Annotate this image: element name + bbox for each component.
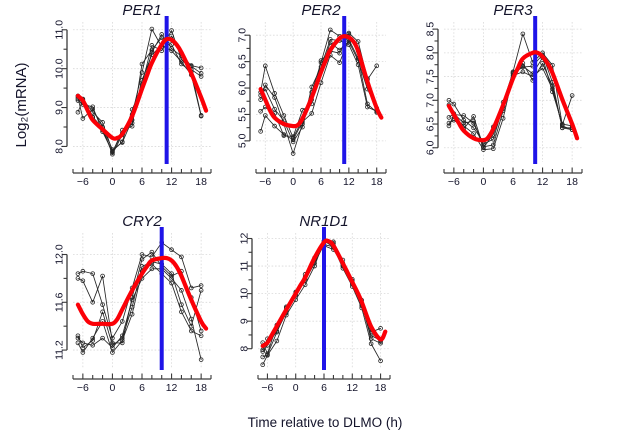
y-axis-title: Log₂(mRNA) [13, 62, 30, 147]
panel-title-per1: PER1 [122, 2, 161, 19]
y-tick-label: 7.5 [425, 69, 437, 84]
x-axis-title: Time relative to DLMO (h) [248, 415, 403, 430]
x-tick-label: 12 [537, 176, 549, 188]
x-tick-label: 18 [371, 176, 383, 188]
panel-title-per3: PER3 [493, 2, 533, 19]
x-tick-label: 0 [481, 176, 487, 188]
x-tick-label: 6 [321, 382, 327, 394]
y-tick-label: 12 [239, 233, 251, 245]
x-tick-label: 12 [166, 176, 178, 188]
x-tick-label: 0 [290, 176, 296, 188]
x-tick-label: 0 [110, 382, 116, 394]
y-tick-label: 10 [239, 288, 251, 300]
x-tick-label: 12 [346, 382, 358, 394]
y-tick-label: 5.0 [237, 133, 249, 148]
x-tick-label: 6 [139, 382, 145, 394]
y-tick-label: 12.0 [54, 244, 66, 265]
y-tick-label: 8.0 [54, 139, 66, 154]
y-tick-label: 11.6 [54, 292, 66, 312]
y-tick-label: 9 [239, 318, 251, 324]
y-tick-label: 7.0 [425, 93, 437, 108]
gene-expression-figure: PER18.09.010.011.0−6061218PER25.05.56.06… [0, 0, 640, 439]
y-axis: 11.211.612.0 [54, 244, 67, 360]
y-tick-label: 8.5 [425, 22, 437, 37]
y-tick-label: 10.0 [54, 58, 66, 79]
x-tick-label: 18 [195, 176, 207, 188]
y-tick-label: 7.0 [237, 28, 249, 43]
y-tick-label: 8.0 [425, 45, 437, 60]
y-tick-label: 11.0 [54, 20, 66, 40]
x-tick-label: −6 [77, 176, 89, 188]
x-tick-label: 6 [139, 176, 145, 188]
y-tick-label: 6.5 [237, 54, 249, 69]
y-tick-label: 6.5 [425, 117, 437, 132]
x-tick-label: 18 [375, 382, 387, 394]
x-tick-label: 18 [566, 176, 578, 188]
y-tick-label: 8 [239, 346, 251, 352]
x-tick-label: −6 [77, 382, 89, 394]
panel-title-cry2: CRY2 [122, 213, 162, 230]
x-tick-label: 18 [195, 382, 207, 394]
x-tick-label: −6 [261, 382, 273, 394]
y-tick-label: 9.0 [54, 100, 66, 115]
x-tick-label: 12 [343, 176, 355, 188]
x-tick-label: 6 [510, 176, 516, 188]
y-tick-label: 11 [239, 260, 251, 271]
y-tick-label: 6.0 [237, 81, 249, 96]
x-tick-label: 0 [293, 382, 299, 394]
x-tick-label: 0 [110, 176, 116, 188]
panel-title-per2: PER2 [301, 2, 341, 19]
x-tick-label: −6 [448, 176, 460, 188]
y-tick-label: 5.5 [237, 107, 249, 122]
x-tick-label: −6 [259, 176, 271, 188]
x-tick-label: 12 [166, 382, 178, 394]
y-tick-label: 11.2 [54, 340, 66, 360]
x-tick-label: 6 [318, 176, 324, 188]
y-tick-label: 6.0 [425, 140, 437, 155]
